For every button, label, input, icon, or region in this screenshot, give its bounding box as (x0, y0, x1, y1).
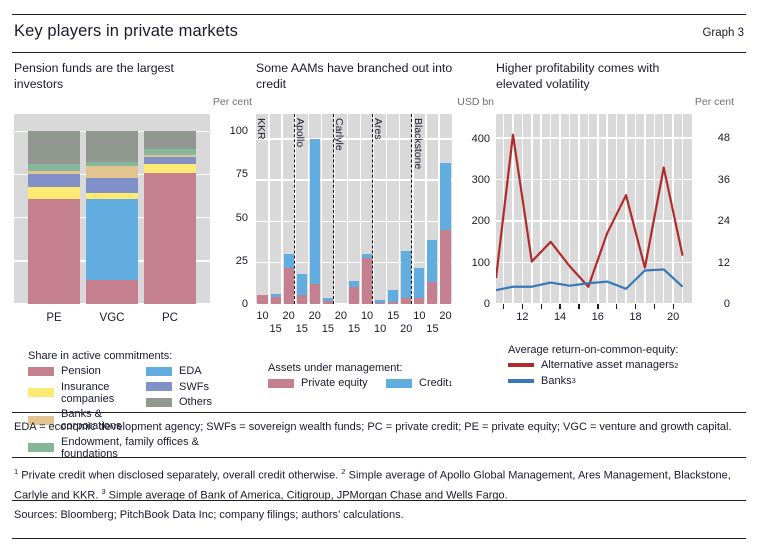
panel-1-legend-item-r2-row: Others (146, 396, 256, 408)
panel-1-bar-segment (28, 174, 80, 186)
panel-2-legend-item-0-label: Private equity (301, 377, 368, 389)
panel-1-bar-segment (86, 199, 138, 280)
panel-3-legend-item-0-footnote-marker: 2 (674, 361, 678, 370)
panel-3-legend-item-1-footnote-marker: 3 (572, 376, 576, 385)
panel-2-x-tick: 20 (439, 310, 451, 322)
panel-2-bar-credit (362, 254, 372, 258)
panel-3-legend-rows: Alternative asset managers2Banks3 (508, 359, 743, 387)
panel-1-y-tick: 50 (214, 212, 248, 224)
divider-footnotes (12, 412, 746, 413)
panel-2-y-tick: 100 (456, 257, 490, 269)
panel-2-legend-item-0-swatch (268, 379, 294, 388)
footnote-marker-2: 2 (341, 467, 345, 476)
panel-1-y-tick: 100 (214, 125, 248, 137)
footnote-references: 1 Private credit when disclosed separate… (14, 464, 744, 504)
panel-2-x-tick: 15 (348, 323, 360, 335)
divider-bottom (12, 538, 746, 539)
panel-2-plot-area: KKRApolloCarlyleAresBlackstone 010020030… (256, 114, 494, 304)
panel-1-bar-segment (28, 187, 80, 199)
divider-top (12, 14, 746, 15)
panel-2-bar (284, 114, 294, 304)
panel-1-category-pc: PC (162, 312, 178, 324)
panel-1-category-vgc: VGC (100, 312, 125, 324)
panel-2-bar (323, 114, 333, 304)
panel-2-bar (349, 114, 359, 304)
panel-2-x-tick: 20 (335, 310, 347, 322)
panel-2-bar-private-equity (297, 295, 307, 304)
panel-1-bar-segment (144, 173, 196, 304)
panel-2-bar-credit (427, 240, 437, 283)
panel-1-legend-item-r1-label: SWFs (179, 381, 209, 393)
panel-2-legend: Assets under management: Private equityC… (268, 362, 498, 393)
panel-2-x-tick: 10 (361, 310, 373, 322)
panel-3-line-series (496, 114, 692, 304)
panel-2-bar (388, 114, 398, 304)
panel-3-tick-mark (597, 304, 598, 309)
panel-3-tick-mark (541, 304, 542, 309)
panel-2-bar-credit (284, 254, 294, 267)
panel-3-x-tick-18: 18 (629, 311, 641, 323)
panel-3-tick-mark (503, 304, 504, 309)
panel-3-x-tick-14: 14 (554, 311, 566, 323)
footnote-sources: Sources: Bloomberg; PitchBook Data Inc; … (14, 508, 744, 524)
panel-1-bar-segment (86, 193, 138, 198)
panel-1-bar-segment (86, 280, 138, 304)
panel-1-bar-segment (86, 131, 138, 162)
panel-2-x-tick: 10 (374, 323, 386, 335)
panel-1-legend-item-endowment-label: Endowment, family offices & foundations (61, 436, 258, 460)
panel-1-bar-segment (144, 149, 196, 156)
panel-2-bar-credit (388, 290, 398, 301)
panel-1-legend-item-r2-swatch (146, 398, 172, 407)
panel-3-title: Higher profitability comes with elevated… (496, 60, 701, 94)
panel-3-x-tick-16: 16 (592, 311, 604, 323)
panel-3-tick-mark (654, 304, 655, 309)
panel-2-legend-item-1-label: Credit (419, 377, 448, 389)
panel-2-bar (257, 114, 267, 304)
panel-1-bar-segment (28, 199, 80, 304)
panel-2-bar (401, 114, 411, 304)
panel-2-bar-credit (310, 139, 320, 284)
panel-2-x-tick: 15 (269, 323, 281, 335)
panel-1-y-tick: 75 (214, 168, 248, 180)
panel-3-y-tick: 24 (696, 215, 730, 227)
panel-2-x-tick: 10 (413, 310, 425, 322)
panel-3-y-tick: 48 (696, 132, 730, 144)
panel-3-legend-item-1-row: Banks3 (508, 375, 743, 387)
panel-1-legend: Share in active commitments: PensionInsu… (28, 350, 258, 463)
panel-1-bar-segment (28, 164, 80, 171)
panel-1-unit: Per cent (213, 96, 252, 108)
panel-2-bar-private-equity (349, 287, 359, 304)
panel-2-bar (440, 114, 450, 304)
panel-2-bar (375, 114, 385, 304)
panel-2-bar (310, 114, 320, 304)
page-title: Key players in private markets (14, 22, 238, 41)
panel-1-bar-segment (28, 171, 80, 174)
panel-2-firm-label-apollo: Apollo (294, 118, 306, 147)
footnote-marker-1: 1 (14, 467, 18, 476)
panel-1-legend-item-r0-label: EDA (179, 365, 202, 377)
panel-3-y-tick: 36 (696, 174, 730, 186)
panel-1-bar-segment (144, 155, 196, 157)
panel-1-legend-item-0-label: Pension (61, 365, 101, 377)
panel-2-legend-item-1-footnote-marker: 1 (448, 379, 452, 388)
panel-2-bar-private-equity (323, 301, 333, 304)
panel-3-legend-item-0-row: Alternative asset managers2 (508, 359, 743, 371)
panel-1-legend-item-1-swatch (28, 388, 54, 397)
panel-3-tick-mark (635, 304, 636, 309)
panel-1-bar-segment (86, 166, 138, 178)
panel-1-legend-item-r1-row: SWFs (146, 381, 256, 393)
panel-2-legend-item-0-row: Private equity (268, 377, 386, 389)
panel-2-bar-private-equity (271, 297, 281, 304)
panel-3-y-tick: 0 (696, 298, 730, 310)
panel-1-legend-item-endowment-row: Endowment, family offices & foundations (28, 436, 258, 460)
panel-3-tick-mark (522, 304, 523, 309)
panel-1-legend-item-1-label: Insurance companies (61, 381, 146, 405)
panel-2-bar-private-equity (414, 298, 424, 304)
footnote-abbreviations: EDA = economic development agency; SWFs … (14, 420, 744, 436)
panel-1-legend-item-0-swatch (28, 367, 54, 376)
panel-2-bar (271, 114, 281, 304)
panel-3-tick-mark (578, 304, 579, 309)
panel-2-legend-item-1-row: Credit1 (386, 377, 496, 389)
panel-2-bar-private-equity (284, 268, 294, 304)
panel-1-bar-segment (144, 131, 196, 148)
panel-3-legend-item-1-swatch (508, 379, 534, 383)
panel-1-legend-item-0-row: Pension (28, 365, 146, 377)
panel-1-stacked-bar (28, 114, 80, 304)
panel-2-bar-credit (323, 298, 333, 301)
panel-2-legend-title: Assets under management: (268, 362, 498, 374)
panel-3-tick-mark (673, 304, 674, 309)
panel-3-legend: Average return-on-common-equity: Alterna… (508, 344, 743, 390)
panel-1-legend-item-endowment-swatch (28, 443, 54, 452)
graph-number: Graph 3 (702, 27, 744, 39)
panel-3-legend-item-0-label: Alternative asset managers (541, 359, 674, 371)
panel-2-bar-credit (440, 163, 450, 230)
panel-2-firm-label-ares: Ares (372, 118, 384, 140)
panel-3-legend-title: Average return-on-common-equity: (508, 344, 743, 356)
panel-1-legend-item-r2-label: Others (179, 396, 212, 408)
panel-3-series-alternative-asset-managers (496, 135, 683, 287)
footnote-marker-3: 3 (101, 487, 105, 496)
panel-2-legend-item-0-wrap: Private equity (268, 377, 386, 393)
graph-page: Key players in private markets Graph 3 P… (0, 0, 758, 557)
panel-3-tick-mark (559, 304, 560, 309)
panel-1-stacked-bar (144, 114, 196, 304)
panel-1-legend-item-1-row: Insurance companies (28, 381, 146, 405)
panel-1-y-tick: 25 (214, 255, 248, 267)
panel-3-unit: Per cent (695, 96, 734, 108)
panel-1-bar-segment (28, 131, 80, 164)
panel-3-x-tick-20: 20 (667, 311, 679, 323)
panel-1-category-pe: PE (46, 312, 61, 324)
panel-1-plot-area: 0255075100 PEVGCPC (14, 114, 252, 304)
panel-2-bar-private-equity (375, 303, 385, 304)
panel-1-legend-wide-row: Endowment, family offices & foundations (28, 436, 258, 460)
panel-2-bar-credit (401, 251, 411, 298)
panel-2-firm-separator (372, 114, 373, 304)
panel-2-firm-label-carlyle: Carlyle (333, 118, 345, 151)
panel-2-x-tick: 15 (322, 323, 334, 335)
divider-header (12, 52, 746, 53)
panel-2-bar-credit (375, 300, 385, 303)
panel-pension-funds: Pension funds are the largest investors … (14, 60, 252, 94)
panel-2-y-tick: 300 (456, 174, 490, 186)
panel-2-bar-private-equity (401, 298, 411, 304)
panel-1-bar-segment (144, 164, 196, 173)
panel-2-legend-item-1-wrap: Credit1 (386, 377, 496, 393)
panel-2-unit: USD bn (457, 96, 494, 108)
panel-aam-aum: Some AAMs have branched out into credit … (256, 60, 494, 94)
panel-3-tick-mark (616, 304, 617, 309)
panel-1-y-tick: 0 (214, 298, 248, 310)
panel-2-y-tick: 200 (456, 215, 490, 227)
panel-2-bar (362, 114, 372, 304)
panel-3-y-tick: 12 (696, 257, 730, 269)
panel-1-stacked-bar (86, 114, 138, 304)
panel-3-x-tick-12: 12 (516, 311, 528, 323)
panel-1-legend-title: Share in active commitments: (28, 350, 258, 362)
panel-2-bar-private-equity (440, 230, 450, 304)
divider-references (12, 457, 746, 458)
panel-2-y-tick: 400 (456, 133, 490, 145)
panel-2-legend-rows: Private equityCredit1 (268, 377, 498, 393)
panel-2-x-tick: 20 (283, 310, 295, 322)
panel-1-bar-segment (86, 178, 138, 194)
panel-2-bar-private-equity (362, 258, 372, 304)
panel-1-title: Pension funds are the largest investors (14, 60, 219, 94)
panel-2-bar-credit (297, 274, 307, 295)
panel-2-firm-label-blackstone: Blackstone (412, 118, 424, 169)
panel-1-legend-item-r1-swatch (146, 382, 172, 391)
panel-2-x-tick: 20 (309, 310, 321, 322)
panel-2-bar-private-equity (257, 295, 267, 304)
panel-1-legend-item-r0-swatch (146, 367, 172, 376)
panel-2-bar-private-equity (427, 282, 437, 304)
panel-2-firm-label-kkr: KKR (255, 118, 267, 140)
panel-2-bar-credit (271, 294, 281, 296)
divider-sources (12, 500, 746, 501)
panel-2-bar-credit (414, 268, 424, 298)
panel-2-bar-credit (349, 281, 359, 287)
panel-2-title: Some AAMs have branched out into credit (256, 60, 461, 94)
panel-2-x-tick: 15 (426, 323, 438, 335)
panel-2-bar (427, 114, 437, 304)
panel-2-x-tick: 15 (296, 323, 308, 335)
panel-2-bar-private-equity (310, 284, 320, 304)
panel-2-x-tick: 15 (387, 310, 399, 322)
panel-2-bar-private-equity (388, 302, 398, 304)
panel-2-x-tick: 20 (400, 323, 412, 335)
panel-2-x-tick: 10 (256, 310, 268, 322)
panel-1-bar-segment (86, 162, 138, 165)
panel-3-legend-item-1-label: Banks (541, 375, 572, 387)
panel-2-y-tick: 0 (456, 298, 490, 310)
panel-1-legend-item-r0-row: EDA (146, 365, 256, 377)
panel-2-legend-item-1-swatch (386, 379, 412, 388)
panel-3-legend-item-0-swatch (508, 363, 534, 367)
panel-1-bar-segment (144, 157, 196, 164)
panel-roce: Higher profitability comes with elevated… (496, 60, 734, 94)
panel-3-plot-area: 012243648 1214161820 (496, 114, 734, 304)
